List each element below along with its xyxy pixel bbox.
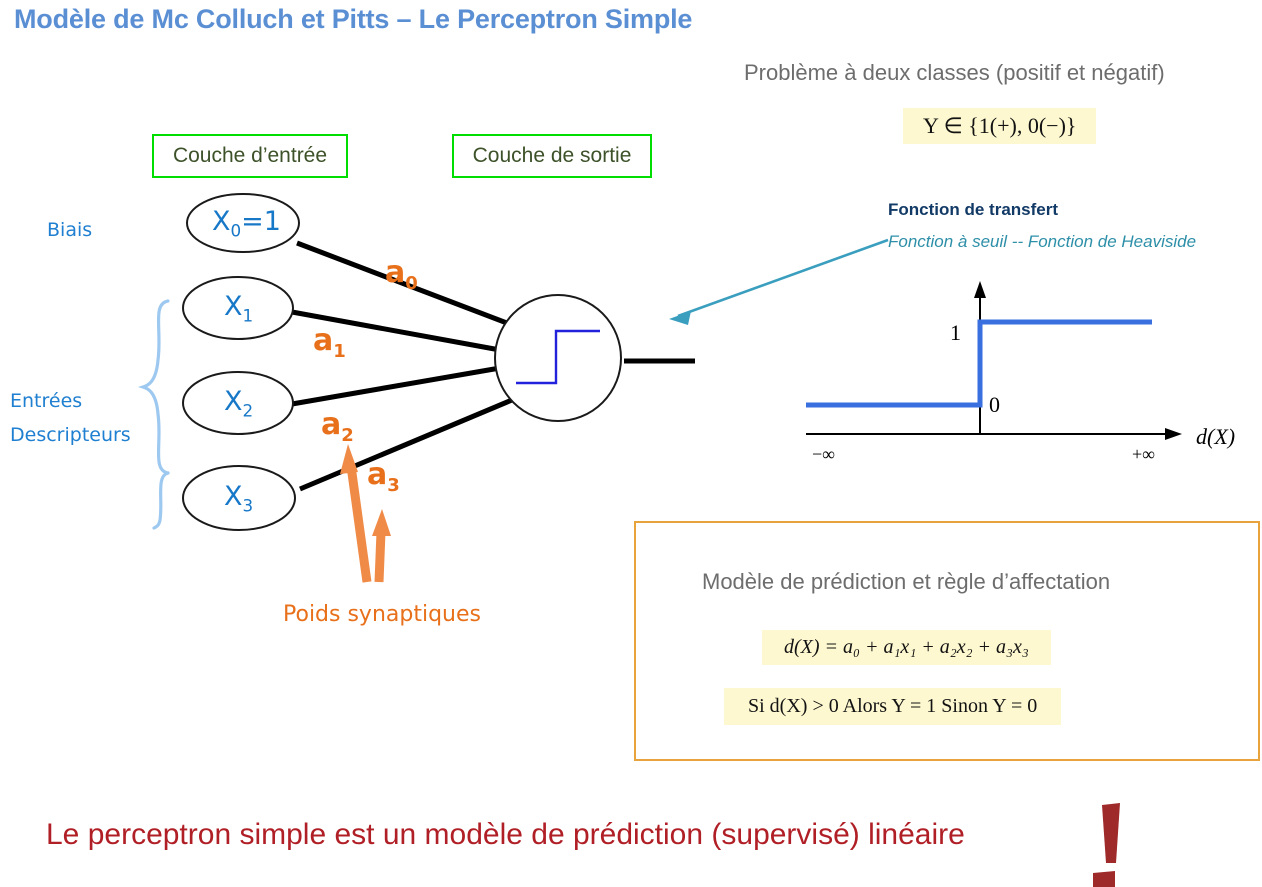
input-node-2-subscript: 2 [243,400,254,420]
transfer-function-subtitle: Fonction à seuil -- Fonction de Heavisid… [888,232,1196,252]
chart-x-axis-label: d(X) [1196,424,1235,450]
input-node-1-label: X1 [224,291,253,325]
input-node-1-subscript: 1 [243,305,254,325]
chart-ytick-1: 1 [950,320,961,346]
bias-node-x: X [212,206,231,237]
weight-a2-sub: 2 [341,425,354,446]
transfer-function-title: Fonction de transfert [888,200,1058,220]
synaptic-weight-arrow-2 [372,509,391,582]
model-panel-heading: Modèle de prédiction et règle d’affectat… [702,569,1110,595]
synaptic-weights-caption: Poids synaptiques [283,602,481,627]
exclamation-mark-icon [1086,797,1196,887]
inputs-brace [143,301,168,473]
inputs-brace-lower [154,473,168,528]
chart-ytick-0: 0 [989,392,1000,418]
weight-label-a2: a2 [321,407,354,446]
input-node-2-label: X2 [224,386,253,420]
input-node-1-x: X [224,291,243,322]
chart-step-curve [806,322,1152,405]
weight-a2-main: a [321,407,341,442]
model-panel: Modèle de prédiction et règle d’affectat… [634,521,1260,761]
chart-xtick-neg-inf: −∞ [812,444,835,465]
transfer-pointer-arrow [669,240,888,325]
bias-node-suffix: =1 [241,206,281,237]
weight-a1-main: a [313,323,333,358]
weight-a0-sub: 0 [405,273,418,294]
weight-label-a1: a1 [313,323,346,362]
synapse-line-a2 [292,368,500,404]
input-node-2-x: X [224,386,243,417]
chart-xtick-pos-inf: +∞ [1132,444,1155,465]
model-formula-1: d(X) = a₀ + a₁x₁ + a₂x₂ + a₃x₃ [762,630,1051,665]
weight-label-a0: a0 [385,255,418,294]
input-node-3-subscript: 3 [243,495,254,515]
weight-a1-sub: 1 [333,341,346,362]
input-node-3-x: X [224,481,243,512]
weight-a3-sub: 3 [387,475,400,496]
bias-node-label: X0=1 [212,206,281,240]
weight-a3-main: a [367,457,387,492]
input-node-3-label: X3 [224,481,253,515]
chart-x-arrowhead [1165,428,1182,440]
chart-y-arrowhead [974,281,986,298]
conclusion-text: Le perceptron simple est un modèle de pr… [46,818,965,852]
weight-a0-main: a [385,255,405,290]
model-formula-2: Si d(X) > 0 Alors Y = 1 Sinon Y = 0 [724,688,1061,725]
bias-node-subscript: 0 [231,220,242,240]
weight-label-a3: a3 [367,457,400,496]
output-neuron-circle [495,295,621,421]
